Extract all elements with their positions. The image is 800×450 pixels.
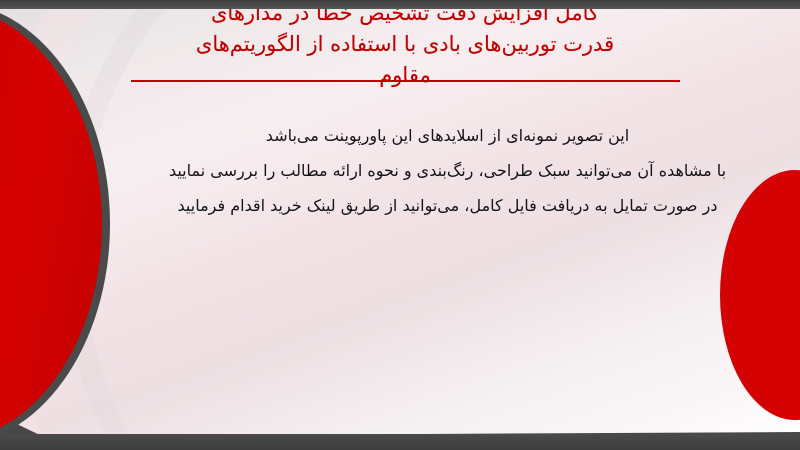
presentation-slide: کامل افزایش دقت تشخیص خطا در مدارهای قدر… bbox=[0, 0, 800, 450]
slide-frame-bottom-band bbox=[0, 434, 800, 450]
slide-body-text: این تصویر نمونه‌ای از اسلایدهای این پاور… bbox=[150, 118, 745, 223]
title-underline-rule bbox=[131, 80, 680, 82]
body-line-3: در صورت تمایل به دریافت فایل کامل، می‌تو… bbox=[150, 188, 745, 223]
body-line-2: با مشاهده آن می‌توانید سبک طراحی، رنگ‌بن… bbox=[150, 153, 745, 188]
body-line-1: این تصویر نمونه‌ای از اسلایدهای این پاور… bbox=[150, 118, 745, 153]
slide-frame-top-band bbox=[0, 0, 800, 9]
slide-title: کامل افزایش دقت تشخیص خطا در مدارهای قدر… bbox=[120, 0, 690, 91]
